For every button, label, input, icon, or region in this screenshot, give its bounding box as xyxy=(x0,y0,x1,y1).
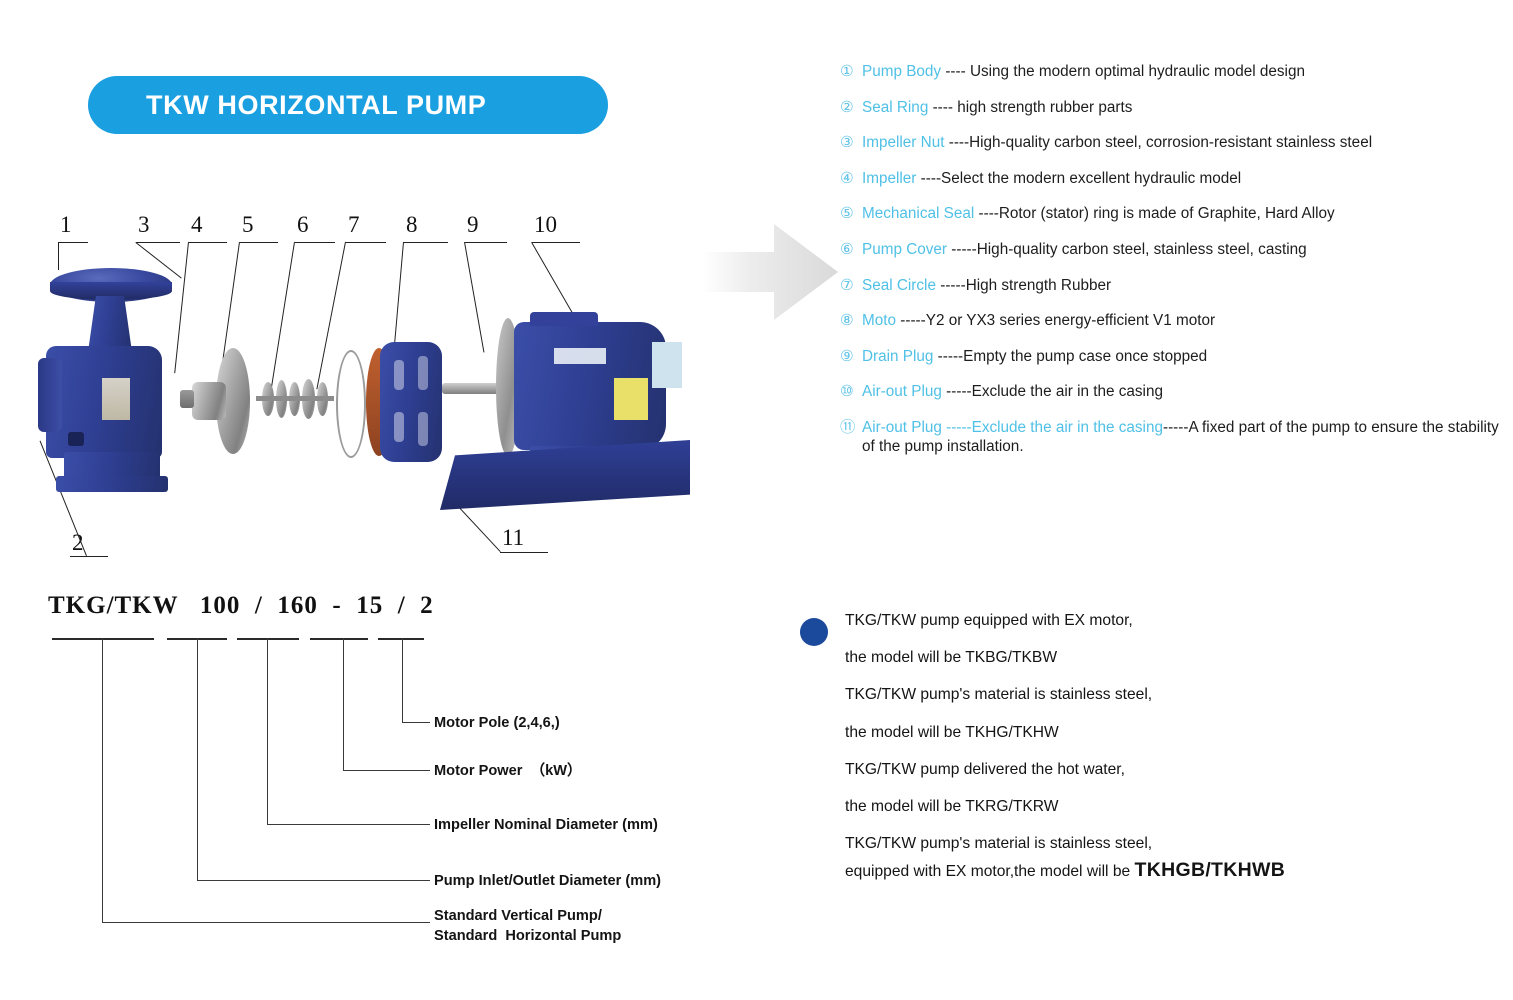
model-drop-standard xyxy=(102,638,103,922)
feature-item: ② Seal Ring ---- high strength rubber pa… xyxy=(840,98,1500,117)
feature-number-icon: ⑪ xyxy=(840,418,862,437)
feature-name: Mechanical Seal xyxy=(862,205,974,222)
segment-underline-pole xyxy=(378,638,424,640)
feature-desc: ----Rotor (stator) ring is made of Graph… xyxy=(974,205,1334,222)
flow-arrow-icon xyxy=(700,218,840,326)
model-leader-impeller xyxy=(267,824,430,825)
feature-desc: -----Y2 or YX3 series energy-efficient V… xyxy=(896,312,1215,329)
model-leader-inlet xyxy=(197,880,430,881)
drain-plug xyxy=(68,432,84,446)
feature-desc: ----Select the modern excellent hydrauli… xyxy=(916,170,1241,187)
leader-line-6-diag xyxy=(270,242,295,392)
feature-item: ⑥ Pump Cover -----High-quality carbon st… xyxy=(840,240,1500,259)
feature-desc: -----High-quality carbon steel, stainles… xyxy=(947,241,1307,258)
callout-number-8: 8 xyxy=(406,212,418,238)
leader-line-2 xyxy=(70,556,108,557)
feature-number-icon: ② xyxy=(840,98,862,117)
feature-item: ⑨ Drain Plug -----Empty the pump case on… xyxy=(840,347,1500,366)
model-label-impeller: Impeller Nominal Diameter (mm) xyxy=(434,816,658,836)
feature-desc: -----Exclude the air in the casing xyxy=(942,383,1163,400)
model-drop-inlet xyxy=(197,638,198,880)
feature-number-icon: ⑤ xyxy=(840,204,862,223)
feature-name: Impeller Nut xyxy=(862,134,944,151)
pump-cover-window-3 xyxy=(418,356,428,390)
base-plate xyxy=(440,440,690,510)
callout-number-11: 11 xyxy=(502,525,524,551)
feature-name: Pump Body xyxy=(862,63,941,80)
pump-body-base-plate xyxy=(56,476,168,492)
feature-desc: -----Empty the pump case once stopped xyxy=(933,348,1207,365)
motor-nameplate xyxy=(652,342,682,388)
model-drop-power xyxy=(343,638,344,770)
notes-block: TKG/TKW pump equipped with EX motor, the… xyxy=(800,612,1460,901)
feature-name: Moto xyxy=(862,312,896,329)
leader-line-6 xyxy=(295,242,335,243)
feature-item: ⑧ Moto -----Y2 or YX3 series energy-effi… xyxy=(840,311,1500,330)
feature-number-icon: ③ xyxy=(840,133,862,152)
feature-item: ⑦ Seal Circle -----High strength Rubber xyxy=(840,276,1500,295)
leader-line-7 xyxy=(346,242,386,243)
feature-number-icon: ① xyxy=(840,62,862,81)
note-line: the model will be TKRG/TKRW xyxy=(800,798,1460,817)
leader-line-11 xyxy=(500,552,548,553)
feature-desc: ---- high strength rubber parts xyxy=(928,99,1132,116)
motor-shaft xyxy=(442,383,500,394)
feature-number-icon: ⑧ xyxy=(840,311,862,330)
model-code-string: TKG/TKW 100 / 160 - 15 / 2 xyxy=(48,592,434,620)
pump-body-nameplate xyxy=(102,378,130,420)
model-leader-power xyxy=(343,770,430,771)
feature-name: Air-out Plug xyxy=(862,419,942,436)
callout-number-1: 1 xyxy=(60,212,72,238)
feature-name: Seal Ring xyxy=(862,99,928,116)
callout-number-6: 6 xyxy=(297,212,309,238)
feature-number-icon: ⑦ xyxy=(840,276,862,295)
feature-desc-blue: -----Exclude the air in the casing xyxy=(942,419,1163,436)
leader-line-4 xyxy=(189,242,227,243)
impeller-hub xyxy=(192,382,226,420)
callout-number-10: 10 xyxy=(534,212,557,238)
seal-circle-oring xyxy=(336,350,366,458)
mechanical-seal-shaft xyxy=(256,396,334,401)
note-line: TKG/TKW pump equipped with EX motor, xyxy=(800,612,1460,631)
pump-body-neck xyxy=(88,296,132,352)
feature-number-icon: ④ xyxy=(840,169,862,188)
bullet-icon xyxy=(800,618,828,646)
feature-item-last: ⑪ Air-out Plug -----Exclude the air in t… xyxy=(840,418,1500,456)
callout-number-9: 9 xyxy=(467,212,479,238)
note-line: TKG/TKW pump's material is stainless ste… xyxy=(800,835,1460,854)
pump-cover-window-2 xyxy=(394,412,404,442)
model-label-power: Motor Power （kW） xyxy=(434,762,582,782)
note-line: TKG/TKW pump's material is stainless ste… xyxy=(800,686,1460,705)
feature-item: ⑤ Mechanical Seal ----Rotor (stator) rin… xyxy=(840,204,1500,223)
feature-number-icon: ⑨ xyxy=(840,347,862,366)
motor-terminal-box xyxy=(530,312,598,326)
pump-cover-window-4 xyxy=(418,412,428,446)
callout-number-4: 4 xyxy=(191,212,203,238)
model-drop-impeller xyxy=(267,638,268,824)
leader-line-4-diag xyxy=(174,242,189,373)
pump-body-suction-flange xyxy=(38,358,62,432)
feature-item: ① Pump Body ---- Using the modern optima… xyxy=(840,62,1500,81)
model-leader-standard xyxy=(102,922,430,923)
feature-name: Air-out Plug xyxy=(862,383,942,400)
note-final-prefix: equipped with EX motor,the model will be xyxy=(845,863,1135,880)
segment-underline-power xyxy=(310,638,368,640)
note-line: TKG/TKW pump delivered the hot water, xyxy=(800,761,1460,780)
feature-item: ④ Impeller ----Select the modern excelle… xyxy=(840,169,1500,188)
feature-desc: -----High strength Rubber xyxy=(936,277,1111,294)
feature-name: Seal Circle xyxy=(862,277,936,294)
note-line-final: equipped with EX motor,the model will be… xyxy=(800,859,1460,882)
feature-name: Impeller xyxy=(862,170,916,187)
motor-label-white xyxy=(554,348,606,364)
leader-line-8 xyxy=(404,242,448,243)
model-drop-pole xyxy=(402,638,403,722)
motor-label-yellow xyxy=(614,378,648,420)
model-code-breakdown: TKG/TKW 100 / 160 - 15 / 2 Motor Pole (2… xyxy=(30,592,730,962)
callout-number-7: 7 xyxy=(348,212,360,238)
model-label-standard: Standard Vertical Pump/ Standard Horizon… xyxy=(434,907,621,946)
feature-name: Pump Cover xyxy=(862,241,947,258)
note-line: the model will be TKBG/TKBW xyxy=(800,649,1460,668)
feature-desc: ----High-quality carbon steel, corrosion… xyxy=(944,134,1372,151)
feature-number-icon: ⑩ xyxy=(840,382,862,401)
exploded-pump-diagram: 1 3 4 5 6 7 8 9 10 2 11 xyxy=(30,200,720,580)
feature-name: Drain Plug xyxy=(862,348,933,365)
leader-line-1 xyxy=(58,242,88,243)
leader-line-10 xyxy=(532,242,580,243)
leader-line-1-drop xyxy=(58,242,59,270)
feature-list: ① Pump Body ---- Using the modern optima… xyxy=(840,62,1500,473)
model-label-inlet: Pump Inlet/Outlet Diameter (mm) xyxy=(434,872,661,892)
callout-number-3: 3 xyxy=(138,212,150,238)
feature-number-icon: ⑥ xyxy=(840,240,862,259)
model-label-pole: Motor Pole (2,4,6,) xyxy=(434,714,560,734)
leader-line-5 xyxy=(240,242,278,243)
feature-desc: ---- Using the modern optimal hydraulic … xyxy=(941,63,1305,80)
leader-line-9-diag xyxy=(464,242,484,352)
model-leader-pole xyxy=(402,722,430,723)
page-title: TKW HORIZONTAL PUMP xyxy=(88,90,486,121)
page-title-banner: TKW HORIZONTAL PUMP xyxy=(88,76,608,134)
note-final-model: TKHGB/TKHWB xyxy=(1135,859,1286,881)
pump-cover-body xyxy=(380,342,442,462)
pump-cover-window-1 xyxy=(394,360,404,390)
leader-line-9 xyxy=(465,242,507,243)
impeller-nut xyxy=(180,390,194,408)
note-line: the model will be TKHG/TKHW xyxy=(800,724,1460,743)
callout-number-5: 5 xyxy=(242,212,254,238)
leader-line-3 xyxy=(136,242,180,243)
feature-item: ⑩ Air-out Plug -----Exclude the air in t… xyxy=(840,382,1500,401)
feature-item: ③ Impeller Nut ----High-quality carbon s… xyxy=(840,133,1500,152)
